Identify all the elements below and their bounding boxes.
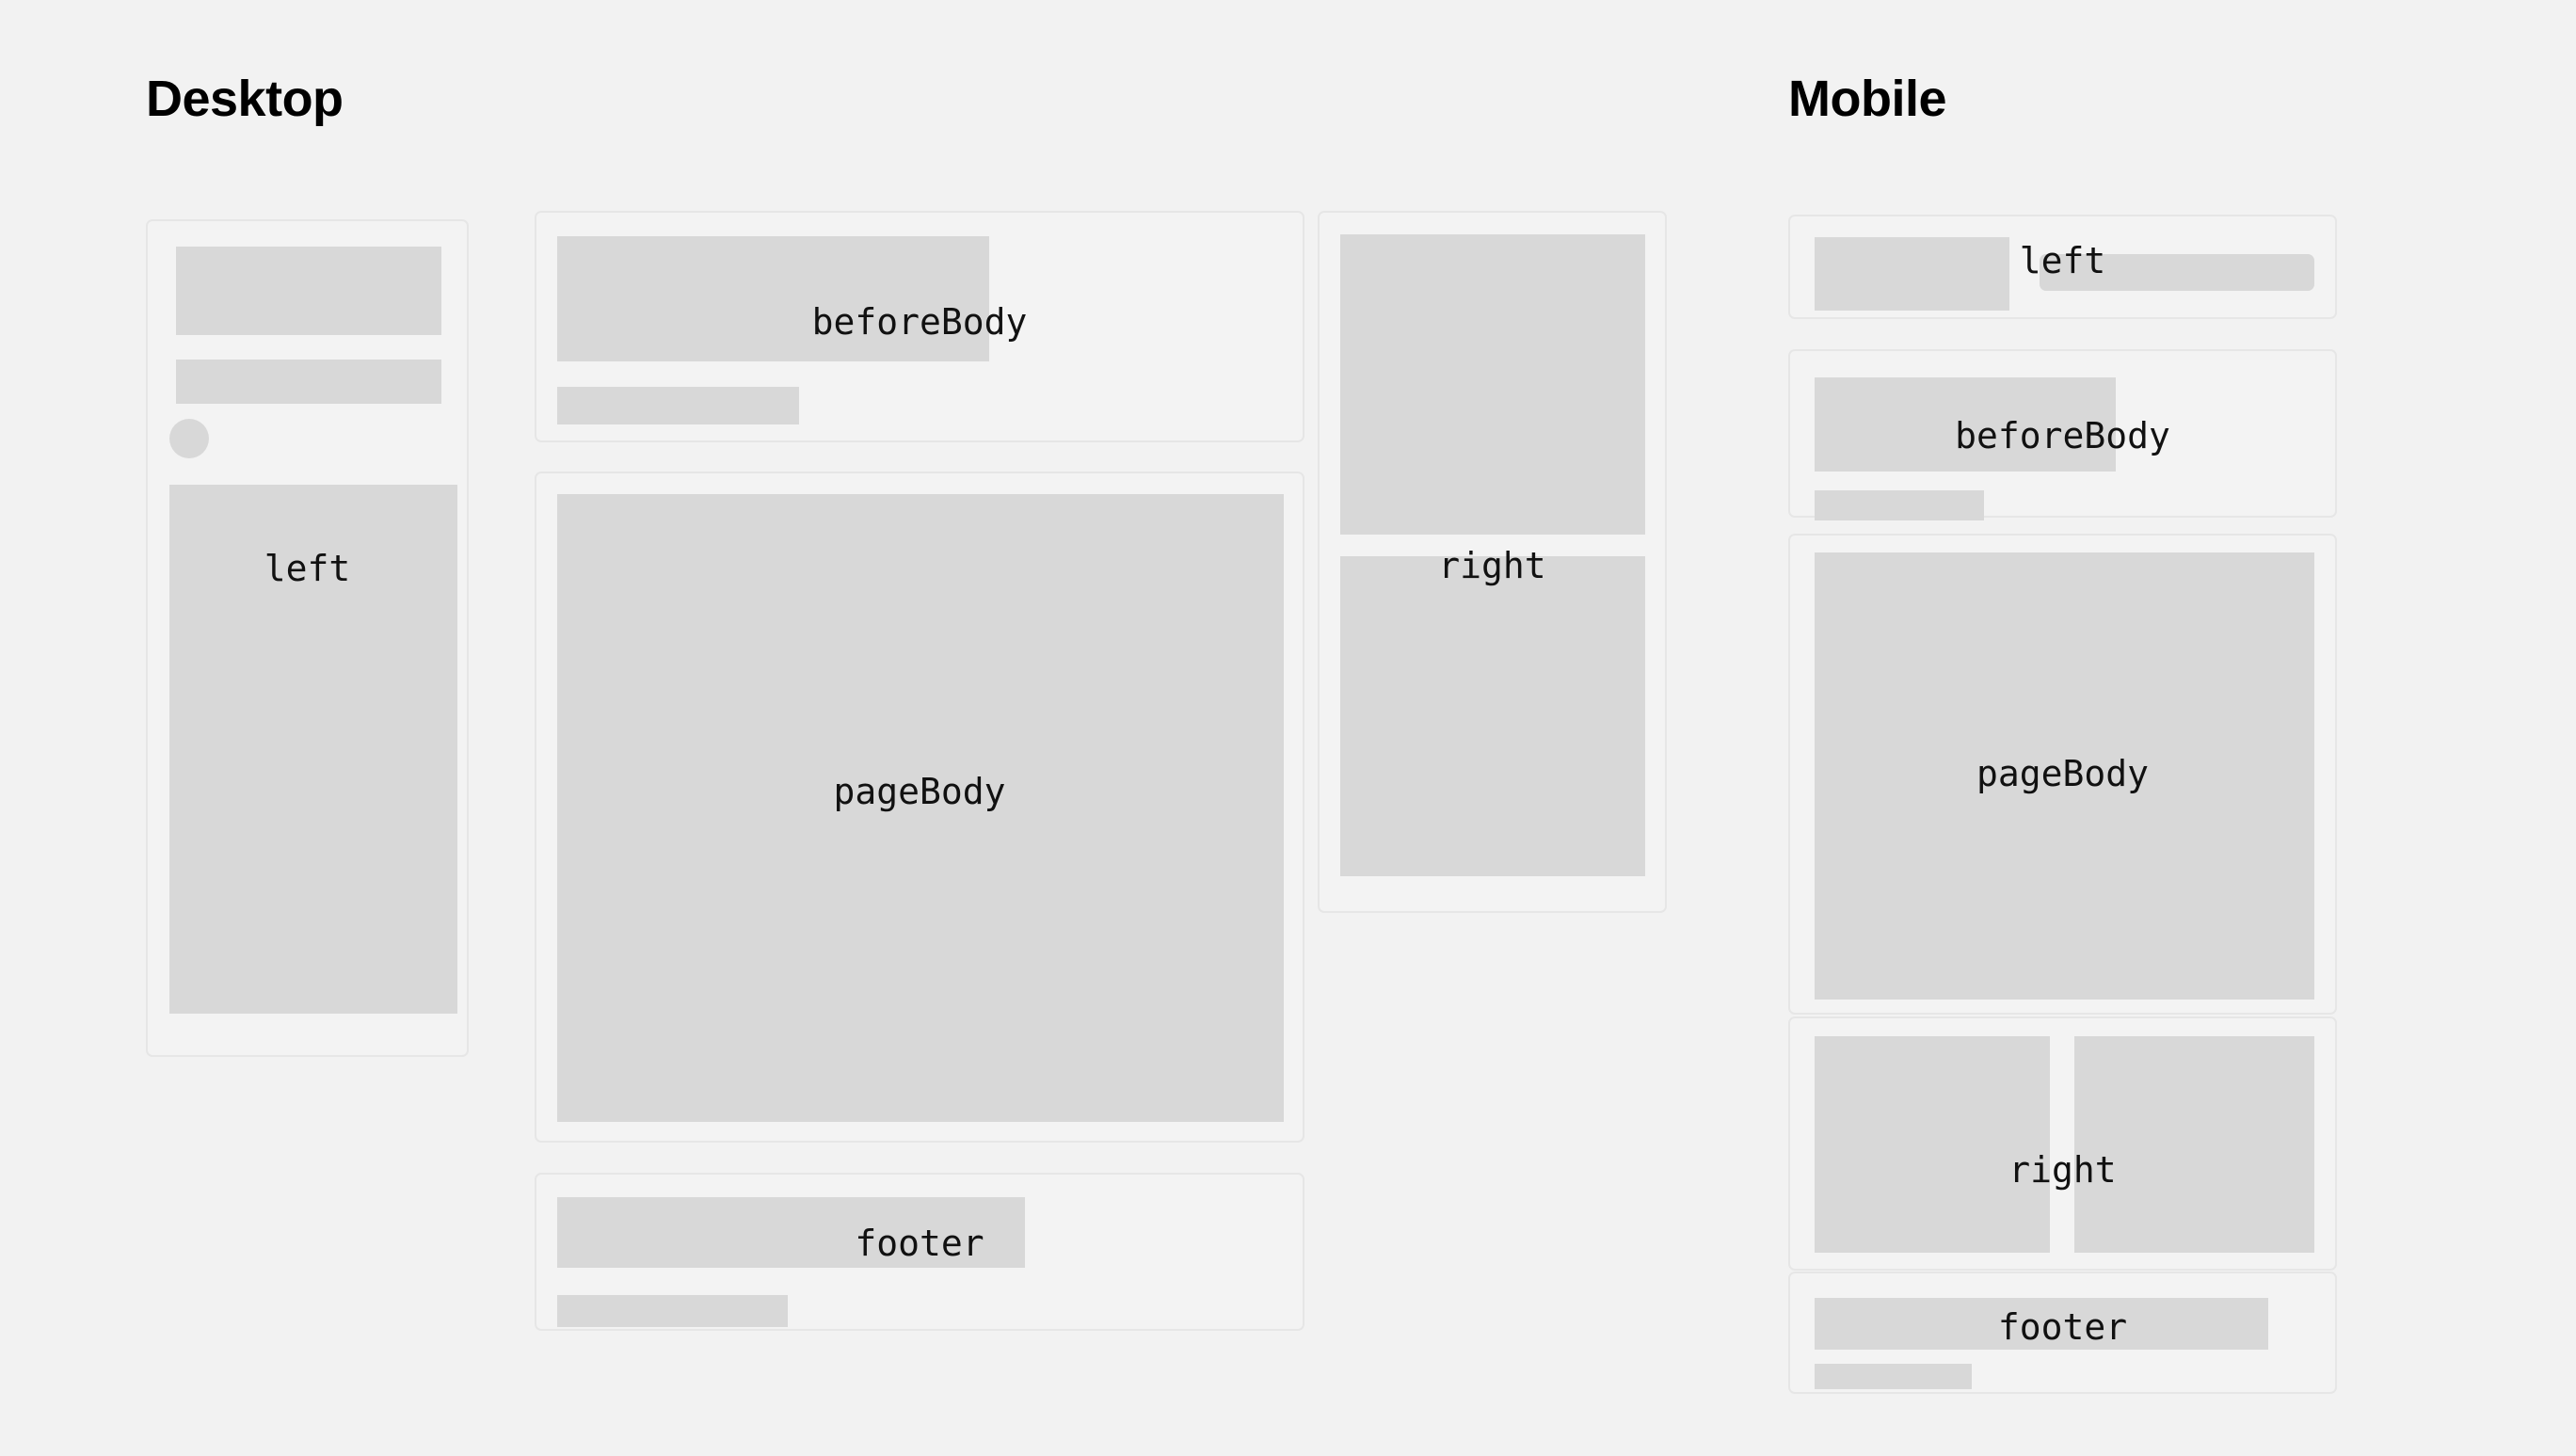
skeleton-circle-dot: [2286, 261, 2312, 286]
skeleton-block-footer-sub: [1815, 1364, 1972, 1389]
mobile-beforebody-panel[interactable]: [1788, 349, 2337, 518]
desktop-footer-panel[interactable]: [535, 1173, 1304, 1331]
skeleton-block-pagebody: [557, 494, 1284, 1122]
desktop-right-panel[interactable]: [1318, 211, 1667, 913]
desktop-section-title: Desktop: [146, 73, 344, 124]
skeleton-block-bar: [176, 360, 441, 404]
mobile-right-panel[interactable]: [1788, 1016, 2337, 1271]
mobile-pagebody-panel[interactable]: [1788, 534, 2337, 1015]
mobile-footer-panel[interactable]: [1788, 1272, 2337, 1394]
skeleton-block-body: [169, 485, 457, 1014]
mobile-section-title: Mobile: [1788, 73, 1946, 124]
skeleton-block-pagebody: [1815, 552, 2314, 1000]
skeleton-block-banner: [176, 247, 441, 335]
skeleton-bar-left: [2040, 254, 2314, 291]
skeleton-block-footer-sub: [557, 1295, 788, 1327]
desktop-left-panel[interactable]: [146, 219, 469, 1057]
skeleton-block-caption: [1815, 490, 1984, 520]
skeleton-block-right-b: [2074, 1036, 2314, 1253]
skeleton-block-avatar-tile: [1815, 237, 2009, 311]
skeleton-block-footer-main: [557, 1197, 1025, 1268]
skeleton-block-hero: [1815, 377, 2116, 472]
desktop-pagebody-panel[interactable]: [535, 472, 1304, 1143]
skeleton-block-right-a: [1815, 1036, 2050, 1253]
skeleton-circle-avatar: [169, 419, 209, 458]
skeleton-block-right-bottom: [1340, 556, 1645, 876]
skeleton-block-footer-main: [1815, 1298, 2268, 1350]
skeleton-block-right-top: [1340, 234, 1645, 535]
mobile-left-panel[interactable]: [1788, 215, 2337, 319]
desktop-beforebody-panel[interactable]: [535, 211, 1304, 442]
skeleton-block-caption: [557, 387, 799, 424]
skeleton-block-hero: [557, 236, 989, 361]
